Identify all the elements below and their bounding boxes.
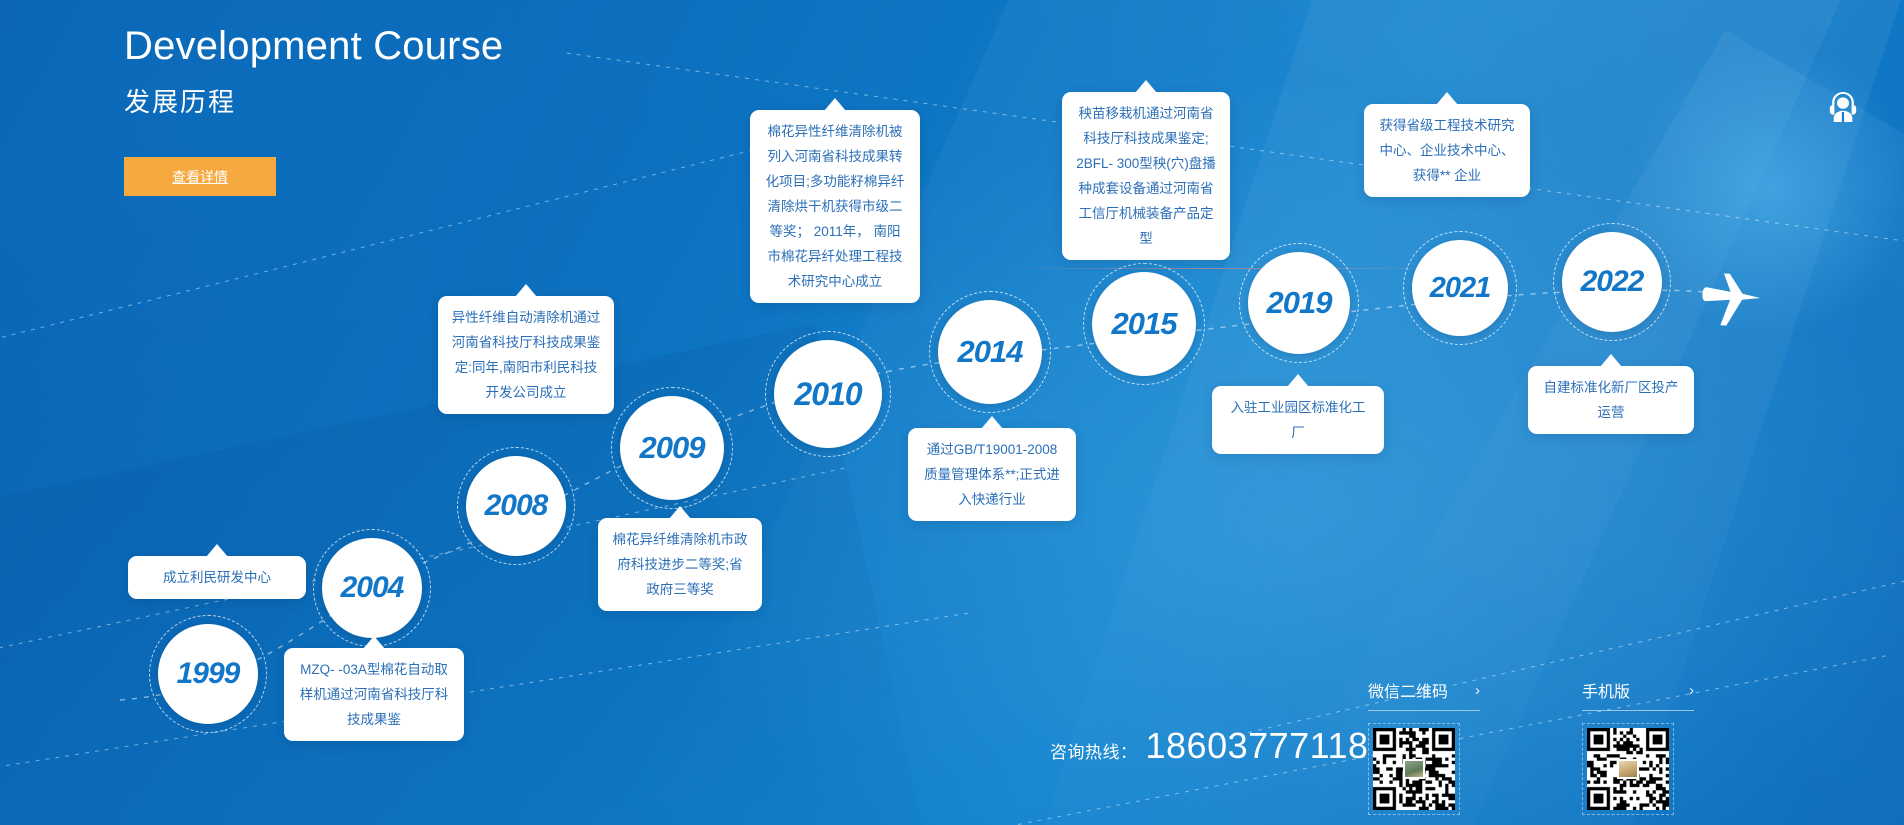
page-background: Development Course 发展历程 查看详情 1999 成立利民研发… xyxy=(0,0,1904,825)
chevron-right-icon: › xyxy=(1689,682,1694,699)
card-text: 棉花异纤维清除机市政府科技进步二等奖;省政府三等奖 xyxy=(613,532,748,597)
timeline-card-2021[interactable]: 获得省级工程技术研究中心、企业技术中心、获得** 企业 xyxy=(1364,104,1530,197)
qr-block-wechat: 微信二维码 › xyxy=(1368,678,1480,815)
qr-wechat-link[interactable]: 微信二维码 › xyxy=(1368,678,1480,711)
timeline-year-2015[interactable]: 2015 xyxy=(1092,272,1196,376)
year-label: 2008 xyxy=(485,489,548,523)
card-text: 异性纤维自动清除机通过河南省科技厅科技成果鉴定:同年,南阳市利民科技开发公司成立 xyxy=(452,310,601,400)
year-label: 2009 xyxy=(640,430,705,466)
card-pointer xyxy=(981,416,1003,429)
hotline-number: 18603777118 xyxy=(1146,725,1369,767)
qr-block-mobile: 手机版 › xyxy=(1582,678,1694,815)
qr-mobile-link[interactable]: 手机版 › xyxy=(1582,678,1694,711)
view-details-label: 查看详情 xyxy=(172,167,228,187)
qr-wechat-image xyxy=(1373,728,1455,810)
hotline-label: 咨询热线： xyxy=(1050,738,1138,763)
card-pointer xyxy=(1436,92,1458,105)
timeline-year-2014[interactable]: 2014 xyxy=(938,300,1042,404)
card-text: 入驻工业园区标准化工厂 xyxy=(1231,400,1366,440)
timeline-card-2019[interactable]: 入驻工业园区标准化工厂 xyxy=(1212,386,1384,454)
timeline-year-2009[interactable]: 2009 xyxy=(620,396,724,500)
timeline-year-1999[interactable]: 1999 xyxy=(158,624,258,724)
qr-center-logo xyxy=(1617,759,1639,779)
timeline-card-1999[interactable]: 成立利民研发中心 xyxy=(128,556,306,599)
qr-mobile-frame xyxy=(1582,723,1674,815)
timeline-card-2008[interactable]: 异性纤维自动清除机通过河南省科技厅科技成果鉴定:同年,南阳市利民科技开发公司成立 xyxy=(438,296,614,414)
card-text: 成立利民研发中心 xyxy=(163,570,271,585)
page-header: Development Course 发展历程 xyxy=(124,22,503,119)
timeline-card-2009[interactable]: 棉花异纤维清除机市政府科技进步二等奖;省政府三等奖 xyxy=(598,518,762,611)
timeline-card-2004[interactable]: MZQ- -03A型棉花自动取样机通过河南省科技厅科技成果鉴 xyxy=(284,648,464,741)
timeline-year-2010[interactable]: 2010 xyxy=(774,340,882,448)
page-title-en: Development Course xyxy=(124,22,503,70)
timeline-card-2014[interactable]: 通过GB/T19001-2008质量管理体系**;正式进入快递行业 xyxy=(908,428,1076,521)
card-text: 棉花异性纤维清除机被列入河南省科技成果转化项目;多功能籽棉异纤清除烘干机获得市级… xyxy=(766,124,905,289)
year-label: 2015 xyxy=(1112,306,1177,342)
year-label: 2010 xyxy=(794,376,861,413)
chevron-right-icon: › xyxy=(1475,682,1480,699)
card-pointer xyxy=(363,636,385,649)
card-pointer xyxy=(1135,80,1157,93)
year-label: 2004 xyxy=(341,571,404,605)
timeline-card-2015[interactable]: 秧苗移栽机通过河南省科技厅科技成果鉴定; 2BFL- 300型秧(穴)盘播种成套… xyxy=(1062,92,1230,260)
qr-wechat-label: 微信二维码 xyxy=(1368,678,1448,702)
timeline-year-2019[interactable]: 2019 xyxy=(1248,252,1350,354)
bg-accent-line xyxy=(1000,268,1470,269)
timeline-card-2022[interactable]: 自建标准化新厂区投产运营 xyxy=(1528,366,1694,434)
qr-wechat-frame xyxy=(1368,723,1460,815)
timeline-year-2021[interactable]: 2021 xyxy=(1412,240,1508,336)
timeline-year-2008[interactable]: 2008 xyxy=(466,456,566,556)
qr-mobile-label: 手机版 xyxy=(1582,678,1630,702)
card-pointer xyxy=(824,98,846,111)
view-details-button[interactable]: 查看详情 xyxy=(124,157,276,196)
dashed-streak xyxy=(0,612,974,769)
airplane-icon xyxy=(1700,272,1764,330)
hotline: 咨询热线： 18603777118 xyxy=(1050,725,1369,767)
year-label: 2022 xyxy=(1581,265,1644,299)
timeline-card-2010[interactable]: 棉花异性纤维清除机被列入河南省科技成果转化项目;多功能籽棉异纤清除烘干机获得市级… xyxy=(750,110,920,303)
timeline-year-2004[interactable]: 2004 xyxy=(322,538,422,638)
page-title-cn: 发展历程 xyxy=(124,82,503,119)
year-label: 2019 xyxy=(1267,285,1332,321)
headset-support-icon xyxy=(1823,87,1863,127)
year-label: 1999 xyxy=(177,657,240,691)
card-text: 秧苗移栽机通过河南省科技厅科技成果鉴定; 2BFL- 300型秧(穴)盘播种成套… xyxy=(1076,106,1216,246)
card-pointer xyxy=(1600,354,1622,367)
year-label: 2014 xyxy=(958,334,1023,370)
qr-center-logo xyxy=(1403,759,1425,779)
card-pointer xyxy=(1287,374,1309,387)
year-label: 2021 xyxy=(1430,272,1491,305)
timeline-year-2022[interactable]: 2022 xyxy=(1562,232,1662,332)
qr-mobile-image xyxy=(1587,728,1669,810)
card-text: 获得省级工程技术研究中心、企业技术中心、获得** 企业 xyxy=(1380,118,1515,183)
card-pointer xyxy=(669,506,691,519)
card-pointer xyxy=(515,284,537,297)
card-pointer xyxy=(206,544,228,557)
customer-service-button[interactable] xyxy=(1818,82,1868,132)
card-text: 自建标准化新厂区投产运营 xyxy=(1544,380,1679,420)
card-text: MZQ- -03A型棉花自动取样机通过河南省科技厅科技成果鉴 xyxy=(300,662,449,727)
dashed-streak xyxy=(1190,575,1904,747)
card-text: 通过GB/T19001-2008质量管理体系**;正式进入快递行业 xyxy=(924,442,1060,507)
